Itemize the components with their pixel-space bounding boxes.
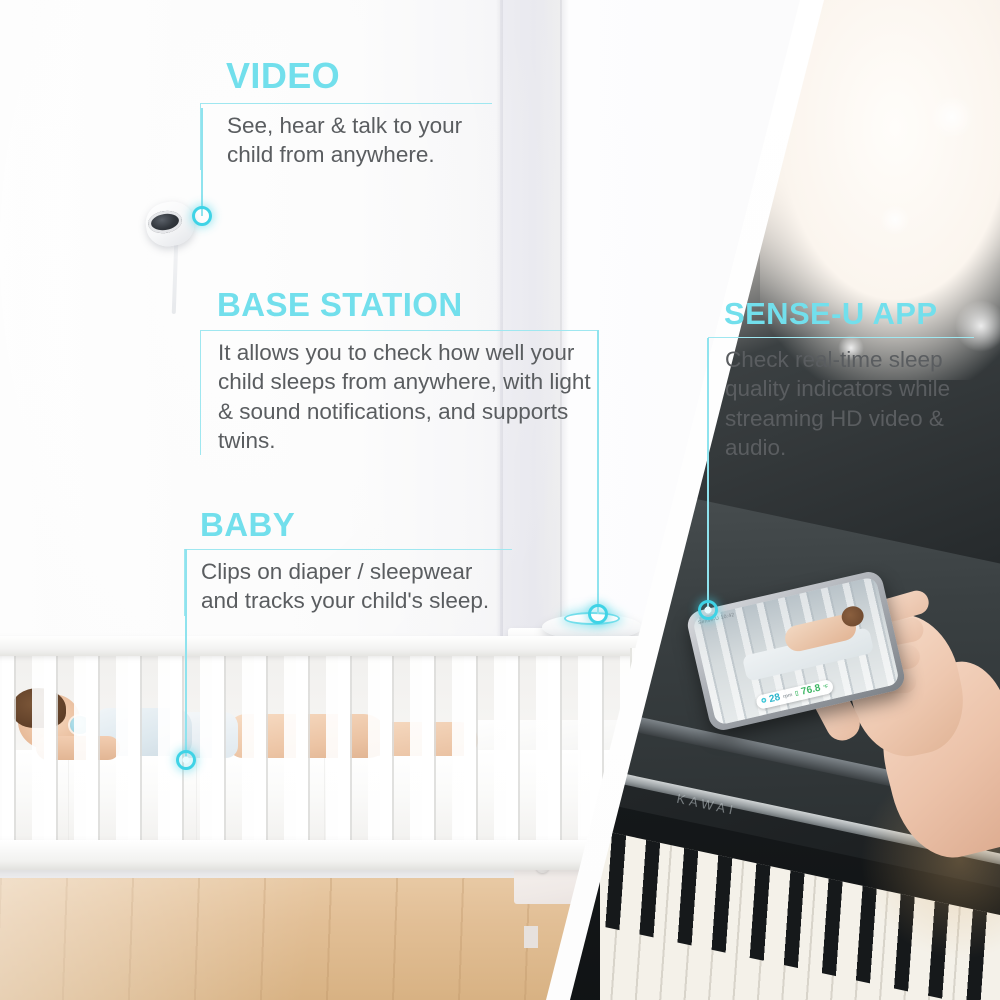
callout-baby-body: Clips on diaper / sleepwear and tracks y… — [184, 550, 514, 616]
connector-line-baby — [185, 549, 187, 761]
temperature-value: 76.8 — [800, 684, 821, 698]
callout-base-station-body: It allows you to check how well your chi… — [200, 331, 600, 455]
callout-baby: BABY Clips on diaper / sleepwear and tra… — [184, 508, 514, 616]
connector-dot-base-station — [588, 604, 608, 624]
callout-sense-u-app-title: SENSE-U APP — [708, 298, 976, 329]
breathing-rate-value: 28 — [768, 693, 781, 705]
connector-dot-baby — [176, 750, 196, 770]
connector-line-sense-u-app — [707, 338, 709, 610]
crib-top-rail — [0, 636, 642, 656]
crib-bottom-rail — [0, 840, 650, 870]
dresser-leg — [524, 926, 538, 948]
callout-base-station: BASE STATION It allows you to check how … — [200, 288, 600, 455]
breathing-rate-unit: rpm — [783, 692, 793, 699]
lungs-icon: ✪ — [761, 698, 767, 705]
camera-cable — [172, 242, 179, 314]
connector-line-video — [201, 108, 203, 216]
connector-dot-video — [192, 206, 212, 226]
callout-sense-u-app: SENSE-U APP Check real-time sleep qualit… — [708, 298, 976, 462]
callout-video-title: VIDEO — [200, 58, 500, 94]
hand-holding-phone: Sense-U 10:42 ✪ 28 rpm ▯ 76.8 °F — [700, 590, 1000, 850]
connector-line-base-station — [597, 330, 599, 614]
callout-video-body: See, hear & talk to your child from anyw… — [200, 104, 500, 170]
callout-video: VIDEO See, hear & talk to your child fro… — [200, 58, 500, 170]
bokeh-highlight — [930, 95, 974, 139]
bokeh-highlight — [880, 205, 910, 235]
thermometer-icon: ▯ — [795, 691, 800, 698]
callout-sense-u-app-body: Check real-time sleep quality indicators… — [708, 338, 976, 462]
temperature-unit: °F — [823, 684, 829, 690]
crib-slat-highlights — [2, 654, 642, 842]
connector-dot-sense-u-app — [698, 600, 718, 620]
crib — [0, 624, 680, 914]
infographic-canvas: KAWAI Sense-U 10:42 ✪ — [0, 0, 1000, 1000]
callout-base-station-title: BASE STATION — [200, 288, 600, 321]
callout-baby-title: BABY — [184, 508, 514, 541]
